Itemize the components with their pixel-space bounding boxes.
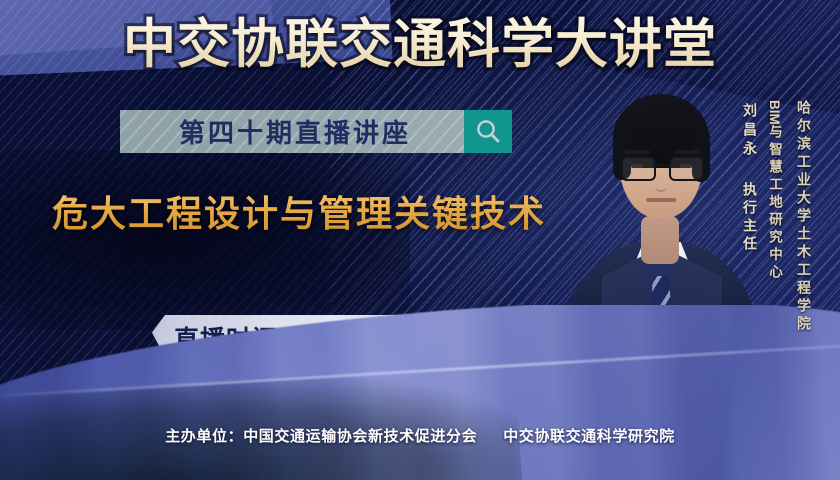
neck <box>641 216 679 264</box>
episode-banner: 第四十期直播讲座 <box>120 110 512 153</box>
organizer-primary: 主办单位：中国交通运输协会新技术促进分会 <box>165 428 477 445</box>
webinar-poster: 中交协联交通科学大讲堂 中交协联交通科学大讲堂 第四十期直播讲座 危大工程设计与… <box>0 0 840 480</box>
episode-label: 第四十期直播讲座 <box>173 113 411 150</box>
episode-banner-body: 第四十期直播讲座 <box>120 110 464 153</box>
eyebrow-left <box>624 150 650 154</box>
speaker-name: 刘昌永 <box>740 103 760 160</box>
eyebrow-right <box>674 150 700 154</box>
page-title: 中交协联交通科学大讲堂 <box>0 14 840 76</box>
bottom-ribbon <box>0 305 840 480</box>
organizer-footer: 主办单位：中国交通运输协会新技术促进分会中交协联交通科学研究院 <box>0 425 840 446</box>
ribbon-sheen <box>0 305 840 480</box>
organizer-secondary: 中交协联交通科学研究院 <box>503 428 675 445</box>
mouth <box>646 198 676 202</box>
search-button[interactable] <box>464 110 512 153</box>
speaker-center-latin: BIM <box>767 100 782 125</box>
glasses-bridge <box>653 164 669 167</box>
nose <box>655 172 667 192</box>
speaker-center-cn: 与智慧工地研究中心 <box>767 125 782 283</box>
background-dark-vignette <box>0 150 410 330</box>
speaker-organization: 哈尔滨工业大学土木工程学院 <box>794 100 814 334</box>
speaker-center: BIM与智慧工地研究中心 <box>764 100 786 282</box>
search-icon <box>475 118 502 145</box>
glasses-lens-right <box>669 156 704 181</box>
lecture-headline: 危大工程设计与管理关键技术 <box>52 190 546 238</box>
glasses-lens-left <box>621 156 656 181</box>
speaker-role: 执行主任 <box>740 182 760 254</box>
